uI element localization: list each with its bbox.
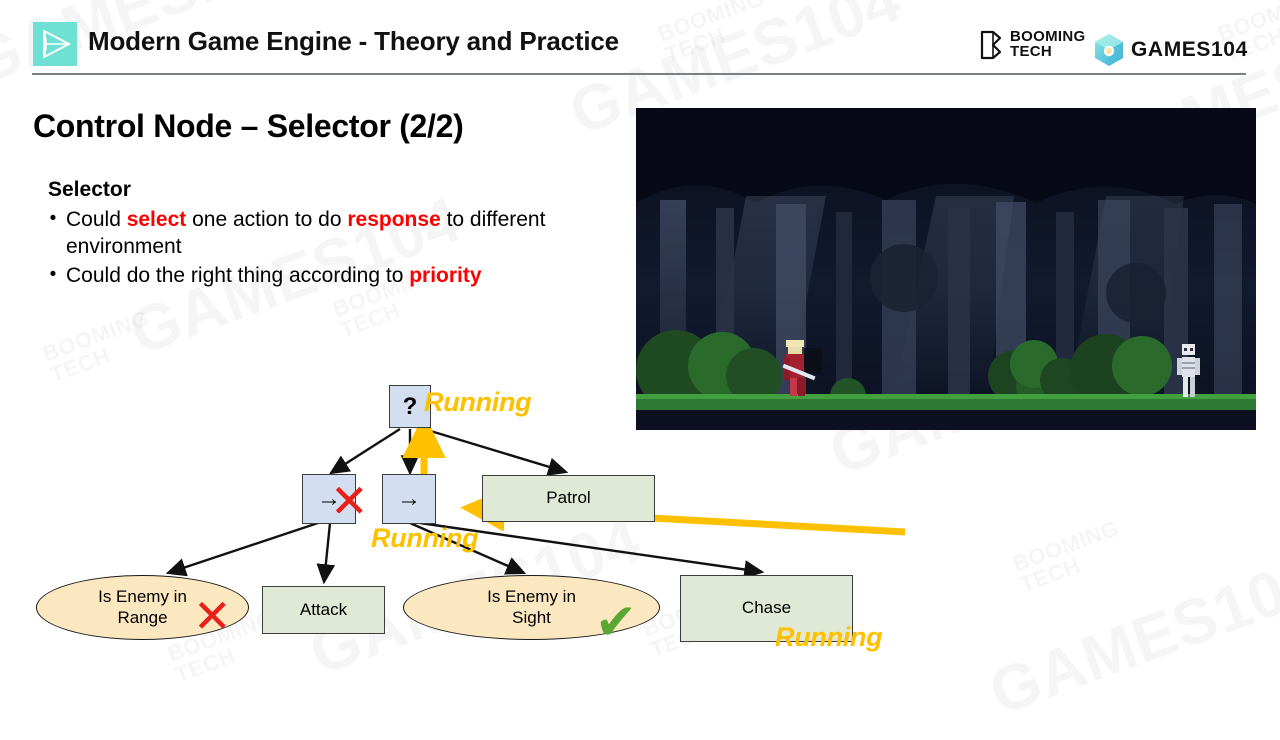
behavior-tree-diagram: ? Running → ✕ → Running Patrol Is Enemy … bbox=[0, 360, 1280, 690]
node-action-attack[interactable]: Attack bbox=[262, 586, 385, 634]
plain-text: Could bbox=[66, 208, 127, 231]
bullet-list: •Could select one action to do response … bbox=[40, 207, 630, 292]
status-running-sequence-right: Running bbox=[371, 523, 478, 554]
node-sequence-right[interactable]: → bbox=[382, 474, 436, 524]
boomingtech-glyph-icon bbox=[980, 30, 1006, 60]
bullet-marker: • bbox=[40, 207, 66, 231]
bullet-marker: • bbox=[40, 263, 66, 287]
tree-edges bbox=[0, 360, 1280, 690]
plain-text: Could do the right thing according to bbox=[66, 264, 409, 287]
sequence-glyph-icon: → bbox=[397, 487, 421, 511]
bullet-item-2: •Could do the right thing according to p… bbox=[40, 263, 630, 290]
section-subhead: Selector bbox=[48, 178, 131, 202]
header-divider bbox=[32, 73, 1246, 75]
selector-glyph-icon: ? bbox=[403, 395, 418, 419]
bullet-text: Could do the right thing according to pr… bbox=[66, 263, 630, 290]
node-label: Is Enemy inSight bbox=[487, 587, 576, 627]
slide-header: Modern Game Engine - Theory and Practice… bbox=[0, 0, 1280, 78]
node-label: Chase bbox=[742, 598, 791, 618]
highlight-term: select bbox=[127, 208, 187, 231]
slide-canvas: GAMES104 GAMES104 GAMES104 GAMES104 GAME… bbox=[0, 0, 1280, 740]
fail-mark-sequence-left: ✕ bbox=[330, 478, 369, 524]
games104-wordmark: GAMES104 bbox=[1131, 38, 1248, 62]
node-label: Patrol bbox=[546, 488, 590, 508]
header-title: Modern Game Engine - Theory and Practice bbox=[88, 26, 619, 57]
highlight-term: priority bbox=[409, 264, 481, 287]
boomingtech-logo: BOOMING TECH bbox=[980, 30, 1085, 60]
plain-text: one action to do bbox=[186, 208, 347, 231]
page-title: Control Node – Selector (2/2) bbox=[33, 108, 464, 145]
status-running-chase: Running bbox=[775, 622, 882, 653]
boomingtech-line2: TECH bbox=[1010, 45, 1085, 60]
highlight-term: response bbox=[347, 208, 440, 231]
status-running-root: Running bbox=[424, 387, 531, 418]
fail-mark-enemy-in-range: ✕ bbox=[193, 593, 232, 639]
success-mark-enemy-in-sight: ✔ bbox=[595, 597, 637, 647]
node-action-patrol[interactable]: Patrol bbox=[482, 475, 655, 522]
games104-cube-icon bbox=[1093, 33, 1125, 67]
node-label: Attack bbox=[300, 600, 347, 620]
node-label: Is Enemy inRange bbox=[98, 587, 187, 627]
bullet-item-1: •Could select one action to do response … bbox=[40, 207, 630, 261]
play-triangle-icon bbox=[33, 22, 77, 66]
bullet-text: Could select one action to do response t… bbox=[66, 207, 630, 261]
